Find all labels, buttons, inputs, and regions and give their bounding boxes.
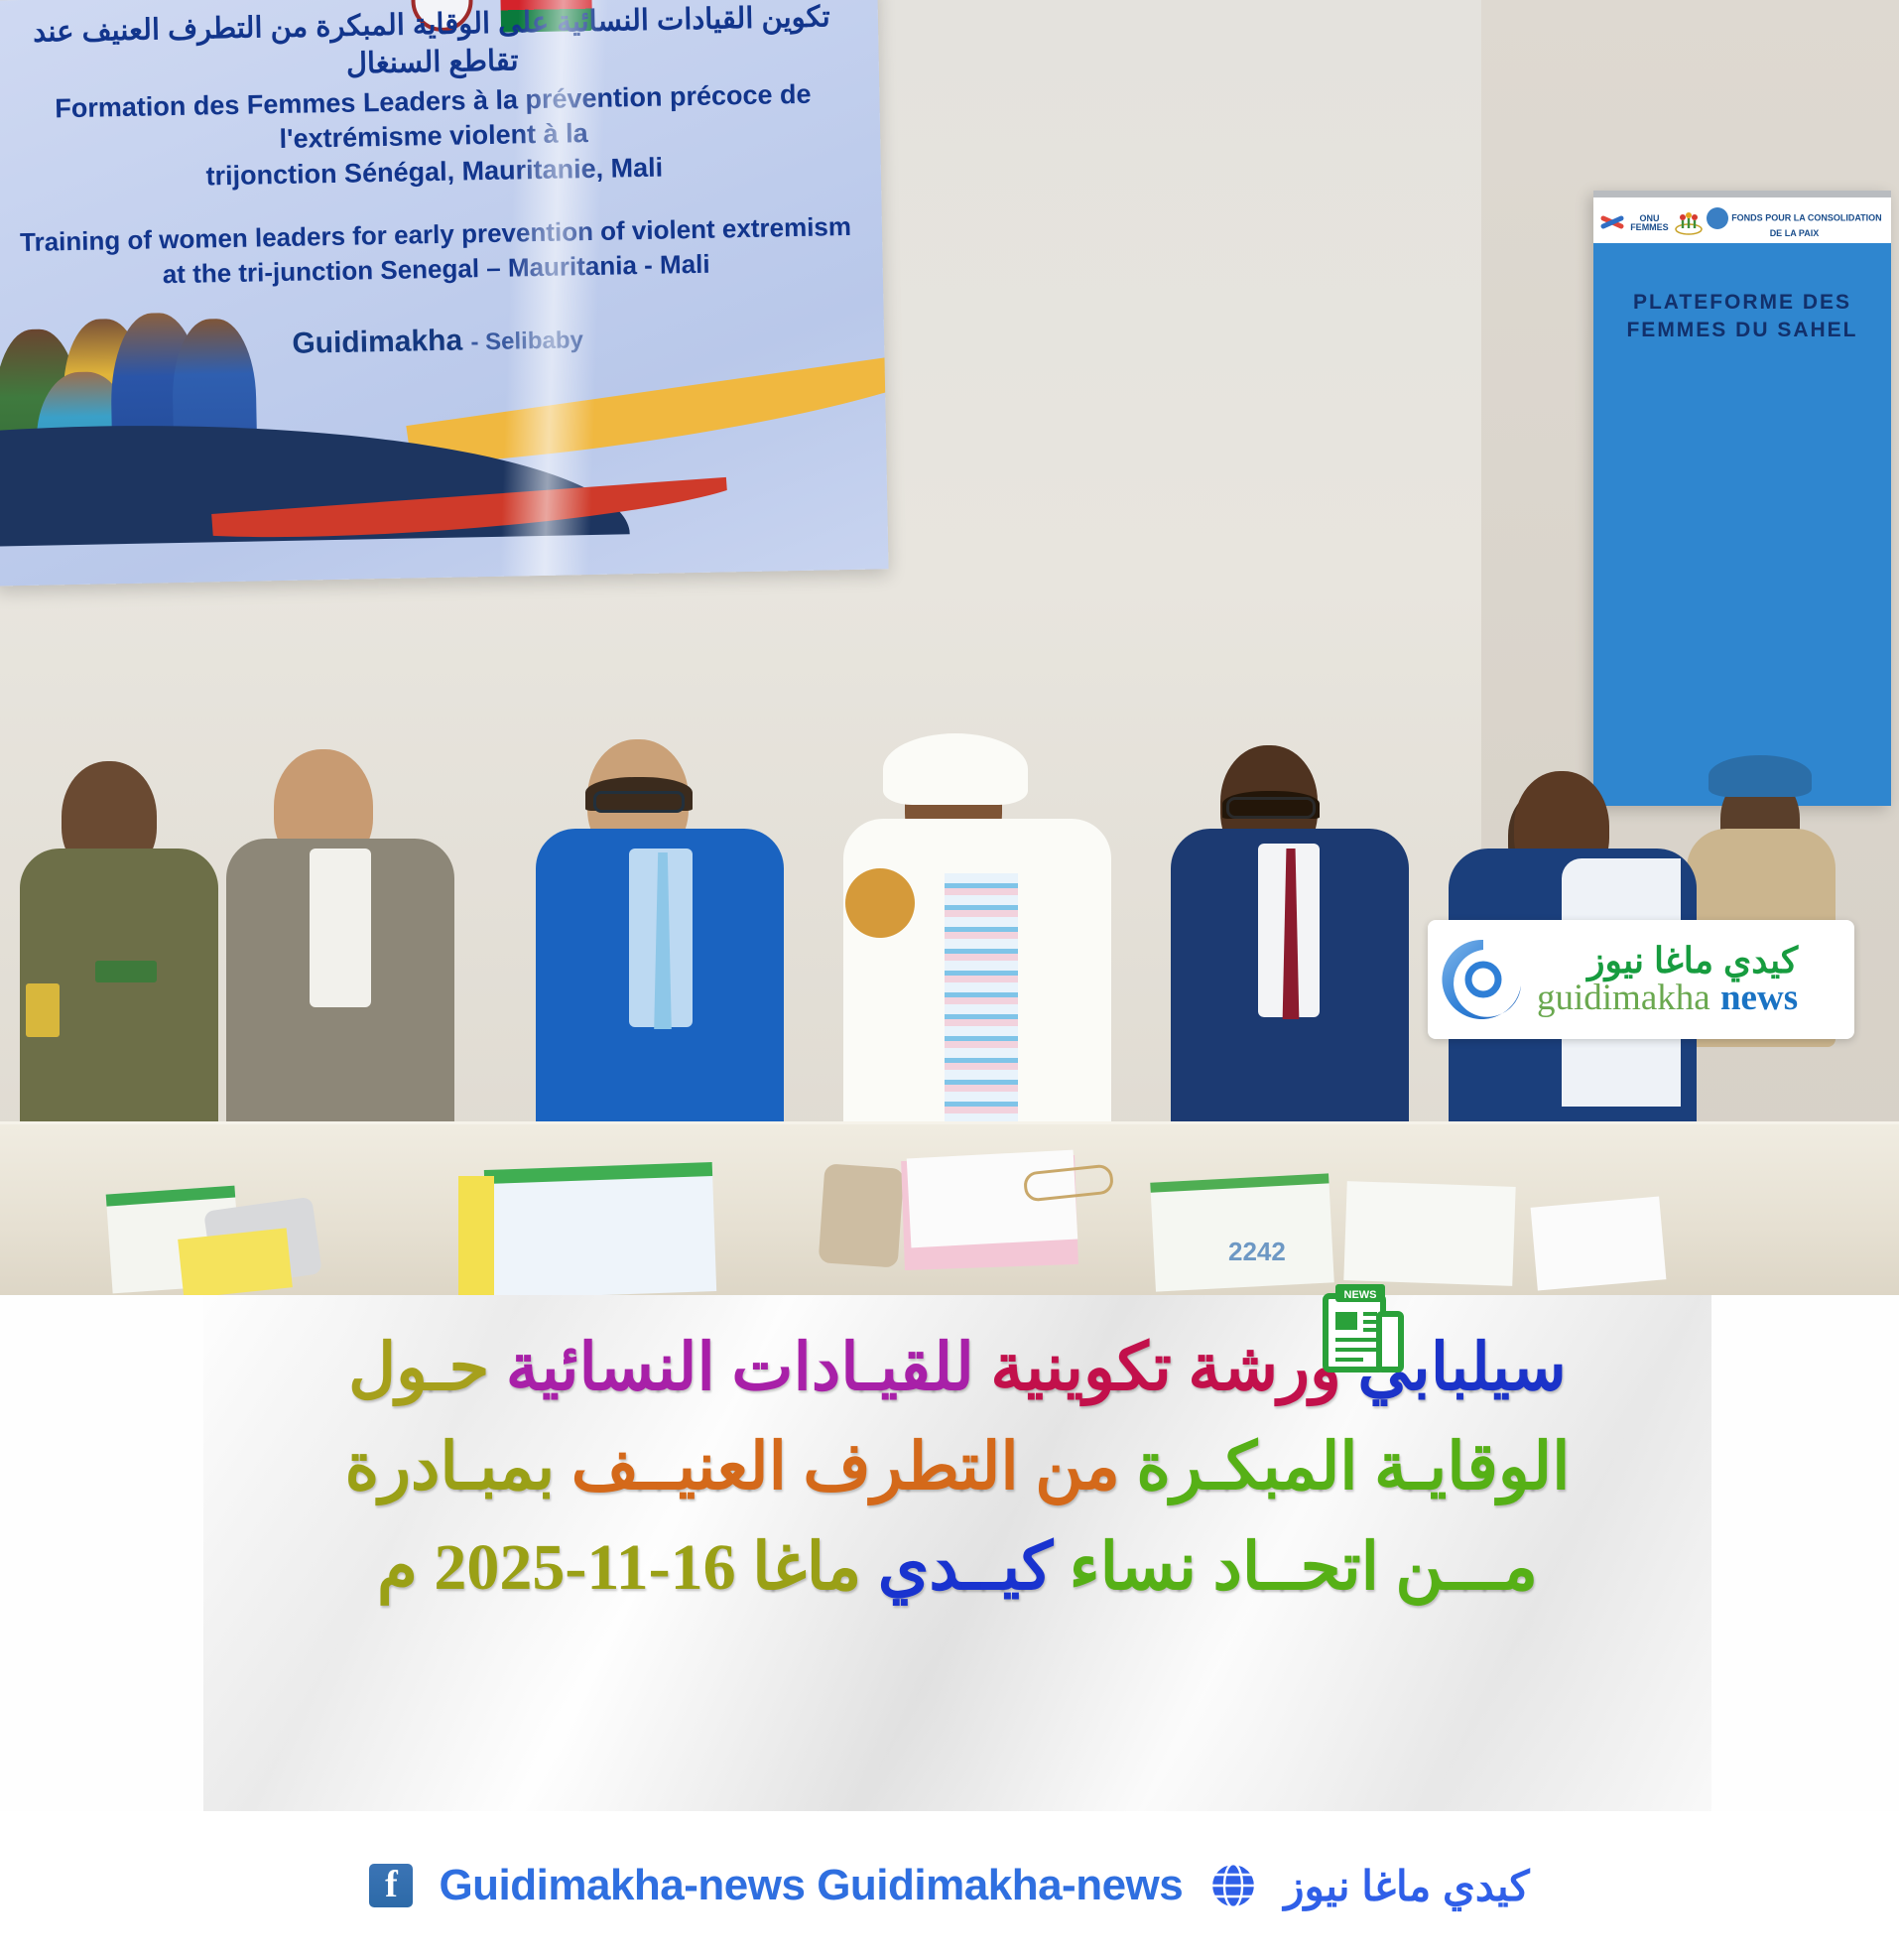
- booklet-open: [484, 1162, 716, 1295]
- news-card-page: تكوين القيادات النسائية على الوقاية المب…: [0, 0, 1899, 1960]
- onu-femmes-label: ONU FEMMES: [1630, 213, 1669, 232]
- caption-l1-seg3: للقيـادات النسائية: [506, 1332, 974, 1404]
- rollup-title-line2: FEMMES DU SAHEL: [1593, 317, 1891, 344]
- rollup-title: PLATEFORME DES FEMMES DU SAHEL: [1593, 289, 1891, 345]
- site-name-label[interactable]: كيدي ماغا نيوز: [1284, 1862, 1529, 1910]
- partner-emblem-icon: [1674, 209, 1704, 237]
- caption-line-3: مـــن اتحــاد نساء كيــدي ماغا 16-11-202…: [243, 1518, 1672, 1618]
- pbf-logo: FONDS POUR LA CONSOLIDATION DE LA PAIX: [1704, 207, 1885, 238]
- cross-emblem-icon: [1599, 209, 1625, 237]
- watermark-arabic: كيدي ماغا نيوز: [1537, 942, 1798, 979]
- svg-text:NEWS: NEWS: [1344, 1289, 1377, 1301]
- caption-l1-seg4: حـول: [348, 1332, 489, 1404]
- guidimakha-news-watermark: كيدي ماغا نيوز guidimakha news: [1428, 920, 1854, 1039]
- watermark-text: كيدي ماغا نيوز guidimakha news: [1537, 942, 1798, 1018]
- watermark-english-news: news: [1720, 978, 1798, 1018]
- rollup-logo-row: FONDS POUR LA CONSOLIDATION DE LA PAIX O…: [1593, 203, 1891, 243]
- watermark-english: guidimakha news: [1537, 979, 1798, 1017]
- news-icon: NEWS: [1322, 1280, 1407, 1375]
- caption-block: سيلبابي ورشة تكوينية للقيـادات النسائية …: [203, 1295, 1711, 1811]
- caption-l3-seg2: كيــدي: [878, 1531, 1053, 1604]
- onu-femmes-logo: ONU FEMMES: [1625, 214, 1674, 233]
- backdrop-banner: تكوين القيادات النسائية على الوقاية المب…: [0, 0, 889, 587]
- caption-l3-seg3: ماغا 16-11-2025 م: [377, 1531, 861, 1604]
- footer-links: Guidimakha-news Guidimakha-news كيدي ماغ…: [0, 1811, 1899, 1960]
- caption-l2-seg3: بمبـادرة: [345, 1431, 556, 1503]
- event-photo: تكوين القيادات النسائية على الوقاية المب…: [0, 0, 1899, 1295]
- caption-l2-seg1: الوقايـة المبكـرة: [1136, 1431, 1570, 1503]
- backdrop-arabic-title: تكوين القيادات النسائية على الوقاية المب…: [0, 0, 865, 90]
- watermark-swirl-icon: [1438, 934, 1529, 1025]
- rollup-title-line1: PLATEFORME DES: [1593, 289, 1891, 317]
- smartphone-2: [819, 1163, 905, 1267]
- watermark-english-guidimakha: guidimakha: [1537, 978, 1710, 1018]
- facebook-page-label[interactable]: Guidimakha-news Guidimakha-news: [439, 1861, 1183, 1910]
- document-guide-2: [1343, 1181, 1515, 1286]
- caption-line-2: الوقايـة المبكـرة من التطرف العنيــف بمب…: [243, 1418, 1672, 1517]
- backdrop-location-city: Guidimakha: [292, 325, 462, 360]
- conference-table: 2242: [0, 1121, 1899, 1295]
- sticky-note-yellow-2: [458, 1176, 494, 1295]
- caption-line-1: سيلبابي ورشة تكوينية للقيـادات النسائية …: [243, 1319, 1672, 1418]
- globe-icon[interactable]: [1208, 1861, 1258, 1910]
- caption-l2-seg2: من التطرف العنيــف: [571, 1431, 1120, 1503]
- napkin-white: [1531, 1196, 1667, 1290]
- pbf-logo-label: FONDS POUR LA CONSOLIDATION DE LA PAIX: [1731, 213, 1882, 239]
- facebook-icon[interactable]: [369, 1864, 413, 1907]
- caption-l1-seg2: ورشة تكوينية: [990, 1332, 1340, 1404]
- caption-l3-seg1: مـــن اتحــاد نساء: [1070, 1531, 1538, 1604]
- sticky-note-yellow: [178, 1228, 293, 1295]
- document-guide-1: [1150, 1173, 1334, 1291]
- document-number-label: 2242: [1228, 1237, 1286, 1267]
